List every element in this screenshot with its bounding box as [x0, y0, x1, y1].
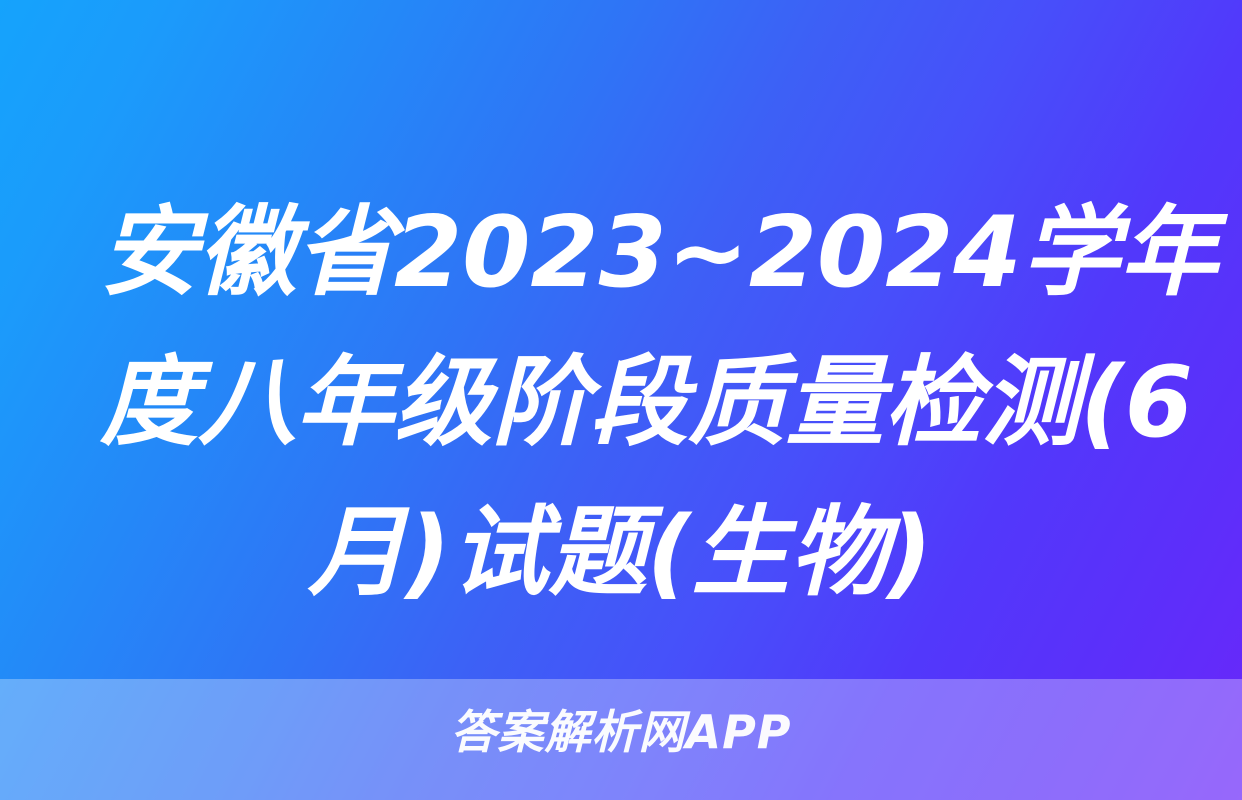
- watermark-label: 答案解析网APP: [450, 704, 791, 760]
- title-line-2: 度八年级阶段质量检测(6: [100, 328, 1146, 478]
- title-line-3: 月)试题(生物): [100, 478, 1146, 628]
- watermark: 答案解析网APP: [0, 704, 1242, 760]
- page-title: 安徽省2023~2024学年 度八年级阶段质量检测(6 月)试题(生物): [100, 178, 1146, 628]
- title-line-1: 安徽省2023~2024学年: [100, 178, 1146, 328]
- title-card: 安徽省2023~2024学年 度八年级阶段质量检测(6 月)试题(生物) 答案解…: [0, 0, 1242, 800]
